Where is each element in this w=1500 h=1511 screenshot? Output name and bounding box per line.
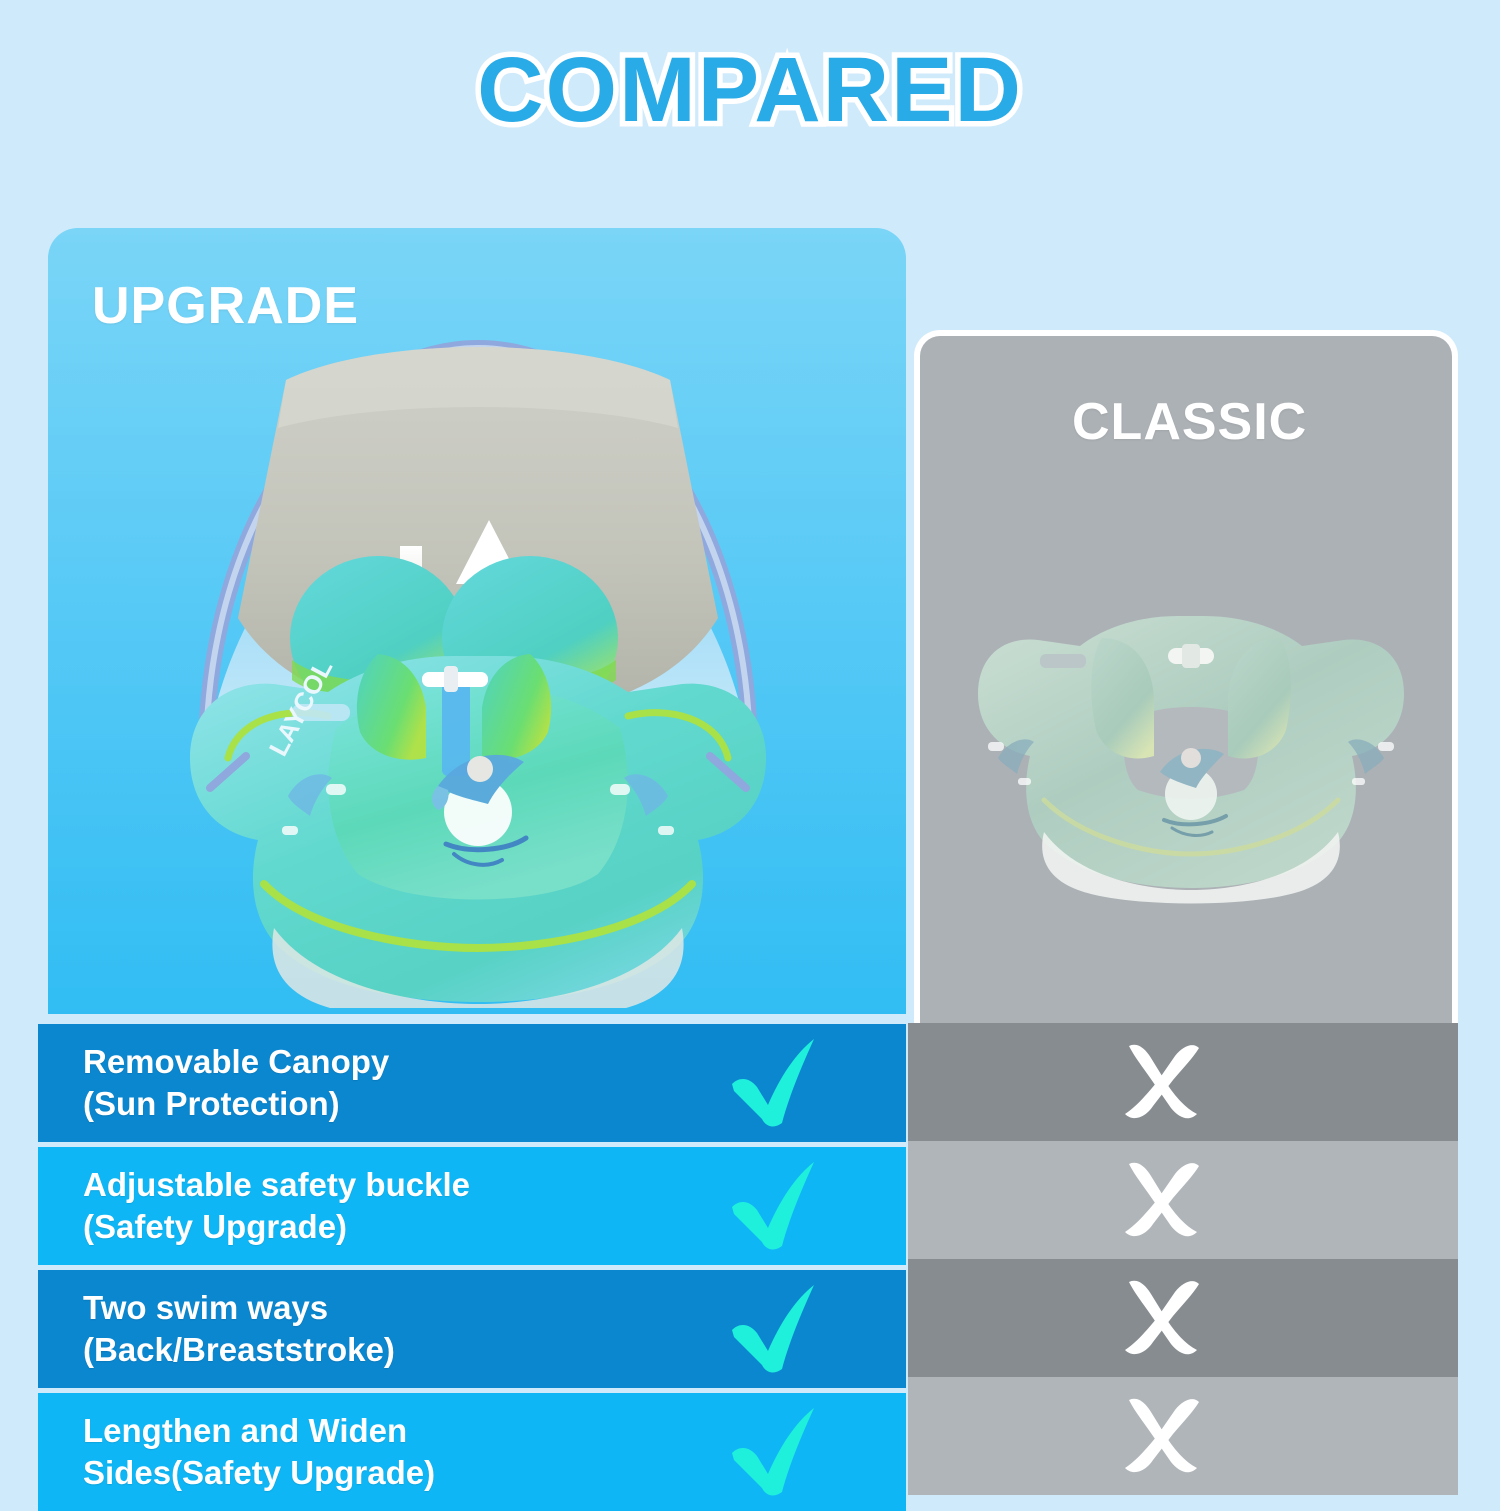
- classic-panel: CLASSIC: [914, 330, 1458, 1024]
- table-row: Lengthen and Widen Sides(Safety Upgrade): [38, 1393, 906, 1511]
- upgrade-mark-cell: [646, 1404, 906, 1500]
- feature-label: Lengthen and Widen Sides(Safety Upgrade): [38, 1410, 646, 1494]
- upgrade-mark-cell: [646, 1281, 906, 1377]
- table-row: [908, 1259, 1458, 1377]
- table-row: Removable Canopy (Sun Protection): [38, 1024, 906, 1142]
- classic-feature-rows: [908, 1023, 1458, 1495]
- check-icon: [724, 1404, 828, 1500]
- upgrade-mark-cell: [646, 1035, 906, 1131]
- feature-label: Adjustable safety buckle (Safety Upgrade…: [38, 1164, 646, 1248]
- table-row: Adjustable safety buckle (Safety Upgrade…: [38, 1147, 906, 1265]
- classic-label: CLASSIC: [1072, 392, 1307, 452]
- classic-mark-cell: [908, 1272, 1458, 1364]
- x-icon: [1115, 1036, 1211, 1128]
- page-title-container: COMPARED: [0, 38, 1500, 143]
- upgrade-feature-rows: Removable Canopy (Sun Protection) Adjust…: [38, 1024, 906, 1511]
- check-icon: [724, 1158, 828, 1254]
- classic-product-image: [956, 526, 1426, 926]
- upgrade-mark-cell: [646, 1158, 906, 1254]
- table-row: [908, 1141, 1458, 1259]
- x-icon: [1115, 1390, 1211, 1482]
- page-title: COMPARED: [477, 38, 1023, 143]
- check-icon: [724, 1035, 828, 1131]
- upgrade-label: UPGRADE: [92, 276, 359, 336]
- classic-dolphin-decal-left: [988, 739, 1034, 785]
- upgrade-product-image: LAYCOL: [78, 288, 878, 1008]
- classic-mark-cell: [908, 1390, 1458, 1482]
- classic-mark-cell: [908, 1036, 1458, 1128]
- table-row: [908, 1377, 1458, 1495]
- table-row: Two swim ways (Back/Breaststroke): [38, 1270, 906, 1388]
- classic-mark-cell: [908, 1154, 1458, 1246]
- classic-dolphin-decal-right: [1348, 739, 1394, 785]
- feature-label: Two swim ways (Back/Breaststroke): [38, 1287, 646, 1371]
- classic-dolphin-graphic: [1160, 748, 1226, 835]
- check-icon: [724, 1281, 828, 1377]
- upgrade-panel: LAYCOL UPGRADE: [48, 228, 906, 1014]
- table-row: [908, 1023, 1458, 1141]
- classic-air-valve: [1040, 654, 1086, 668]
- x-icon: [1115, 1154, 1211, 1246]
- x-icon: [1115, 1272, 1211, 1364]
- feature-label: Removable Canopy (Sun Protection): [38, 1041, 646, 1125]
